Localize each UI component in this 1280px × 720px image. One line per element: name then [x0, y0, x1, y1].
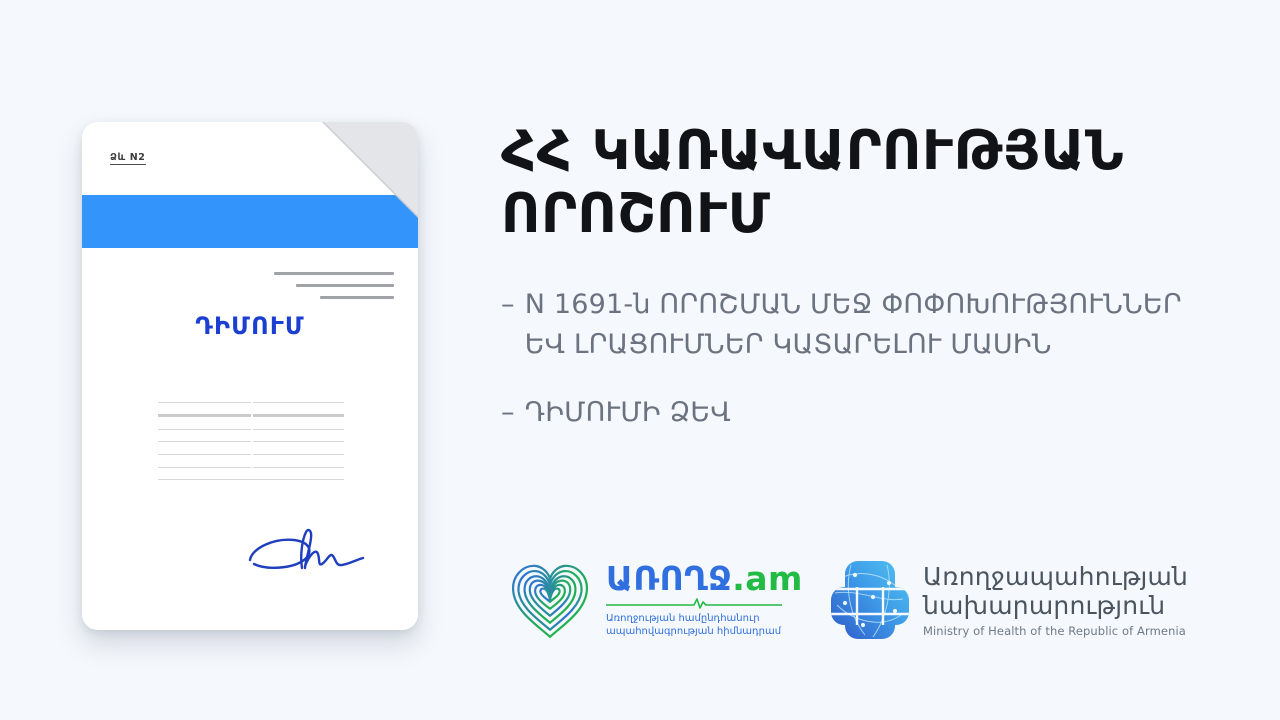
document-ruled-table [158, 390, 344, 472]
slide-canvas: Ձև N2 ԴԻՄՈՒՄ [0, 0, 1280, 720]
list-item: – N 1691-ն ՈՐՈՇՄԱՆ ՄԵՋ ՓՈՓՈԽՈՒԹՅՈՒՆՆԵՐ Ե… [501, 285, 1201, 365]
headline-line-2: ՈՐՈՇՈՒՄ [501, 182, 770, 245]
signature [232, 518, 384, 588]
document-blue-band [82, 195, 418, 248]
dash-marker: – [501, 285, 515, 325]
arogj-wordmark: ԱՌՈՂՋ.am Առողջության համընդհանուր ապահով… [606, 562, 803, 638]
headline-line-1: ՀՀ ԿԱՌԱՎԱՐՈՒԹՅԱՆ [501, 119, 1124, 182]
arogj-word-row: ԱՌՈՂՋ.am [606, 562, 803, 595]
bullet-list: – N 1691-ն ՈՐՈՇՄԱՆ ՄԵՋ ՓՈՓՈԽՈՒԹՅՈՒՆՆԵՐ Ե… [501, 285, 1201, 433]
ministry-of-health-logo: Առողջապահության նախարարություն Ministry … [831, 559, 1188, 641]
content-column: ՀՀ ԿԱՌԱՎԱՐՈՒԹՅԱՆ ՈՐՈՇՈՒՄ – N 1691-ն ՈՐՈՇ… [501, 120, 1201, 461]
logo-row: ԱՌՈՂՋ.am Առողջության համընդհանուր ապահով… [506, 558, 1188, 642]
document-form-label: Ձև N2 [110, 153, 146, 165]
rule-line [296, 284, 394, 287]
medical-cross-network-icon [831, 559, 909, 641]
arogj-am-logo: ԱՌՈՂՋ.am Առողջության համընդհանուր ապահով… [506, 558, 803, 642]
ministry-subtitle: Ministry of Health of the Republic of Ar… [923, 624, 1188, 638]
arogj-word-secondary: .am [732, 559, 803, 598]
arogj-tagline: Առողջության համընդհանուր ապահովագրության… [606, 612, 792, 638]
dash-marker: – [501, 393, 515, 433]
ministry-title-line-2: նախարարություն [923, 591, 1188, 620]
document-decorative-rules [274, 272, 394, 308]
rule-line [320, 296, 394, 299]
arogj-word-primary: ԱՌՈՂՋ [606, 559, 732, 598]
ministry-wordmark: Առողջապահության նախարարություն Ministry … [923, 562, 1188, 638]
table-column-divider [251, 390, 253, 472]
page-title: ՀՀ ԿԱՌԱՎԱՐՈՒԹՅԱՆ ՈՐՈՇՈՒՄ [501, 120, 1201, 245]
list-item: – ԴԻՄՈՒՄԻ ՁԵՎ [501, 393, 1201, 433]
document-illustration: Ձև N2 ԴԻՄՈՒՄ [82, 122, 418, 630]
document-title: ԴԻՄՈՒՄ [82, 312, 418, 340]
ministry-title-line-1: Առողջապահության [923, 562, 1188, 591]
list-item-label: N 1691-ն ՈՐՈՇՄԱՆ ՄԵՋ ՓՈՓՈԽՈՒԹՅՈՒՆՆԵՐ ԵՎ … [525, 285, 1201, 365]
document-page: Ձև N2 ԴԻՄՈՒՄ [82, 122, 418, 630]
rule-line [274, 272, 394, 275]
fingerprint-heart-icon [506, 558, 594, 642]
list-item-label: ԴԻՄՈՒՄԻ ՁԵՎ [525, 393, 1201, 433]
ecg-pulse-line-icon [606, 597, 782, 609]
